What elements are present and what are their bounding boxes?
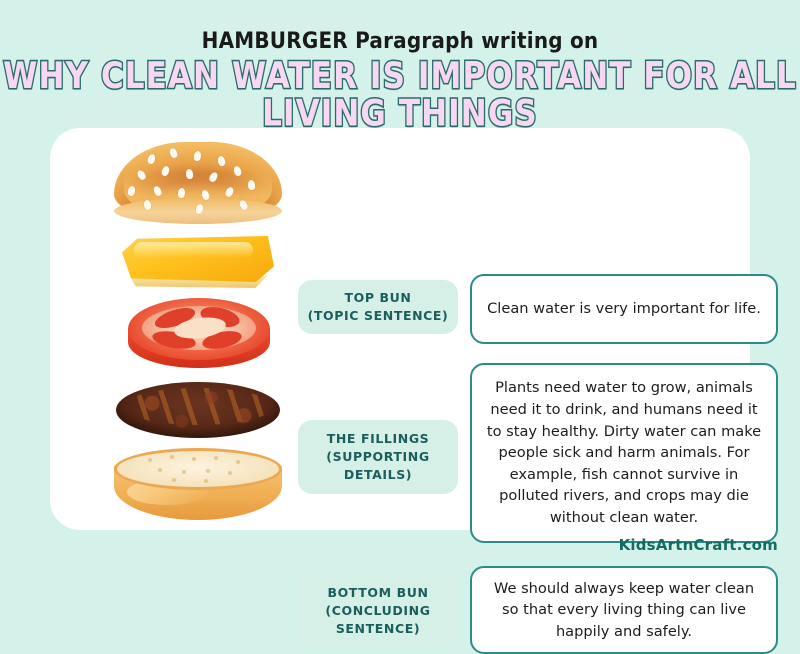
bun-crumb bbox=[158, 468, 162, 472]
textbox-concluding-sentence[interactable]: We should always keep water clean so tha… bbox=[470, 566, 778, 654]
bottom-bun-top bbox=[114, 448, 282, 490]
hamburger-illustration bbox=[108, 136, 288, 526]
top-bun-graphic bbox=[108, 142, 288, 228]
label-top-bun[interactable]: TOP BUN (TOPIC SENTENCE) bbox=[298, 280, 458, 334]
header: HAMBURGER Paragraph writing on WHY CLEAN… bbox=[0, 0, 800, 128]
label-fillings-text: THE FILLINGS (SUPPORTING DETAILS) bbox=[326, 430, 429, 484]
bottom-bun-graphic bbox=[108, 442, 288, 528]
infographic-page: HAMBURGER Paragraph writing on WHY CLEAN… bbox=[0, 0, 800, 566]
cheese-surface bbox=[122, 236, 274, 282]
bun-crumb bbox=[182, 470, 186, 474]
textbox-supporting-details[interactable]: Plants need water to grow, animals need … bbox=[470, 363, 778, 543]
page-title: WHY CLEAN WATER IS IMPORTANT FOR ALL LIV… bbox=[0, 58, 800, 133]
brand-watermark: KidsArtnCraft.com bbox=[619, 536, 778, 554]
tomato-slice-graphic bbox=[108, 288, 288, 376]
content-card: TOP BUN (TOPIC SENTENCE) THE FILLINGS (S… bbox=[50, 128, 750, 530]
beef-patty-graphic bbox=[108, 370, 288, 448]
label-bottom-bun[interactable]: BOTTOM BUN (CONCLUDING SENTENCE) bbox=[298, 574, 458, 648]
textbox-supporting-details-text: Plants need water to grow, animals need … bbox=[486, 377, 762, 528]
label-top-bun-text: TOP BUN (TOPIC SENTENCE) bbox=[308, 289, 449, 325]
bun-crumb bbox=[214, 456, 218, 460]
bun-crumb bbox=[228, 471, 232, 475]
bun-crumb bbox=[204, 479, 208, 483]
textbox-topic-sentence[interactable]: Clean water is very important for life. bbox=[470, 274, 778, 344]
bun-crumb bbox=[148, 458, 152, 462]
bun-crumb bbox=[236, 460, 240, 464]
patty-surface bbox=[116, 382, 280, 438]
bun-crumb bbox=[170, 455, 174, 459]
label-bottom-bun-text: BOTTOM BUN (CONCLUDING SENTENCE) bbox=[325, 584, 430, 638]
bun-crumb bbox=[192, 457, 196, 461]
bun-crumb bbox=[172, 478, 176, 482]
textbox-concluding-sentence-text: We should always keep water clean so tha… bbox=[486, 578, 762, 643]
textbox-topic-sentence-text: Clean water is very important for life. bbox=[487, 298, 761, 320]
header-subtitle: HAMBURGER Paragraph writing on bbox=[0, 27, 800, 54]
bun-crumb bbox=[206, 469, 210, 473]
sesame-seed-icon bbox=[247, 180, 255, 191]
cheese-slice-graphic bbox=[108, 228, 288, 294]
label-fillings[interactable]: THE FILLINGS (SUPPORTING DETAILS) bbox=[298, 420, 458, 494]
